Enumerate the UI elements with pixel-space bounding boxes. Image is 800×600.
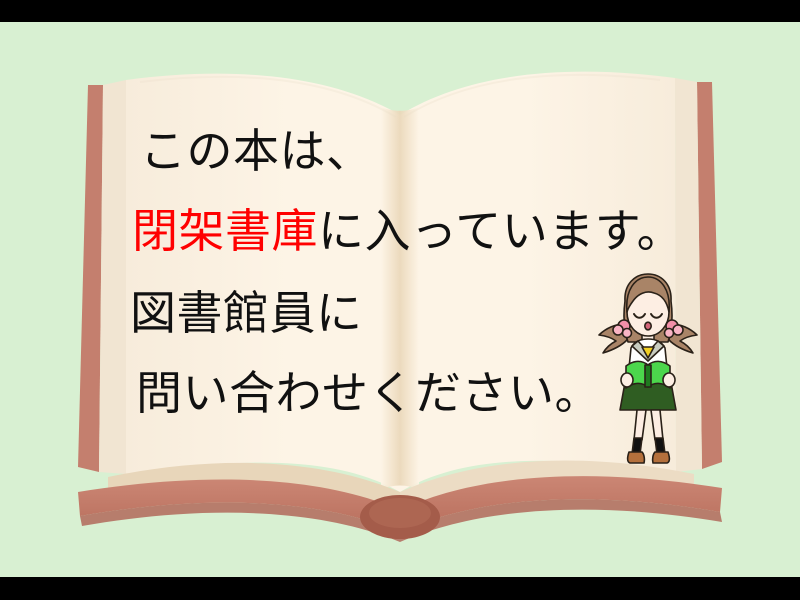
book-spine-knot-highlight (369, 498, 431, 528)
leg-left (634, 410, 646, 440)
leg-right (651, 410, 663, 440)
letterbox-bar-top (0, 0, 800, 22)
girl-reading-illustration (594, 268, 702, 468)
letterbox-bar-bottom (0, 577, 800, 600)
book-cover-left (78, 85, 103, 472)
message-line-2: 閉架書庫に入っています。 (132, 208, 683, 254)
message-line-1: この本は、 (140, 128, 373, 174)
mouth (645, 322, 651, 330)
hair-tie-right (665, 320, 684, 338)
message-line-2-rest: に入っています。 (318, 204, 683, 258)
message-line-4: 問い合わせください。 (136, 370, 601, 416)
book-page-stack-left (99, 80, 126, 474)
book-center-fold (381, 107, 419, 490)
screenshot-canvas: この本は、 閉架書庫に入っています。 図書館員に 問い合わせください。 (0, 0, 800, 600)
hand-right (663, 373, 675, 387)
hand-left (621, 373, 633, 387)
shoe-right (653, 452, 670, 463)
message-highlight-closed-stacks: 閉架書庫 (132, 204, 318, 258)
shoe-left (628, 452, 645, 463)
message-line-3: 図書館員に (130, 290, 363, 336)
hair-tie-left (613, 320, 632, 338)
